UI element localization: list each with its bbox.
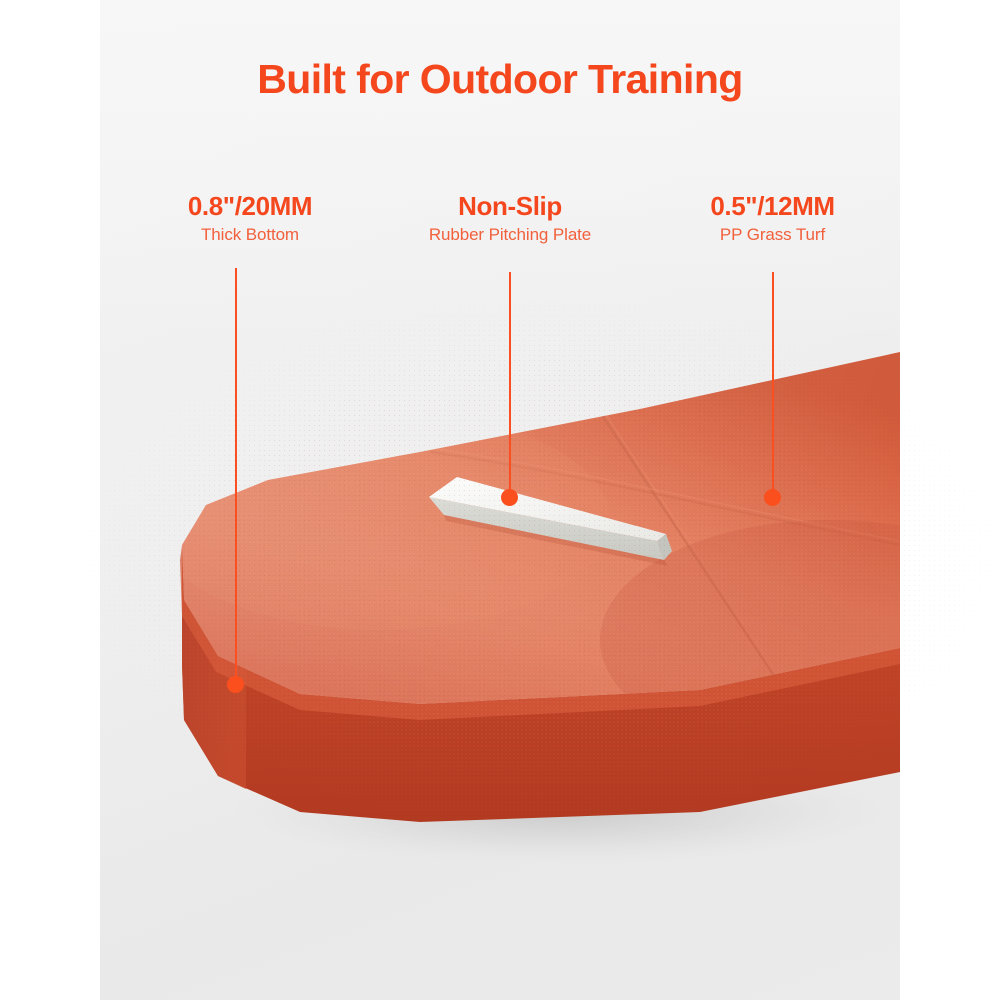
callout-title: 0.5"/12MM: [545, 192, 1000, 220]
leader-dot-thick-bottom: [227, 676, 244, 693]
page-title: Built for Outdoor Training: [0, 56, 1000, 103]
callout-pp-grass-turf: 0.5"/12MM PP Grass Turf: [545, 192, 1000, 245]
leader-dot-pp-grass-turf: [764, 489, 781, 506]
callout-subtitle: PP Grass Turf: [545, 226, 1000, 245]
leader-line-thick-bottom: [235, 268, 237, 686]
product-feature-graphic: Built for Outdoor Training 0.8"/20MM Thi…: [0, 0, 1000, 1000]
leader-line-pp-grass-turf: [772, 272, 774, 498]
leader-dot-non-slip: [501, 489, 518, 506]
product-illustration: [0, 0, 1000, 1000]
leader-line-non-slip: [509, 272, 511, 498]
